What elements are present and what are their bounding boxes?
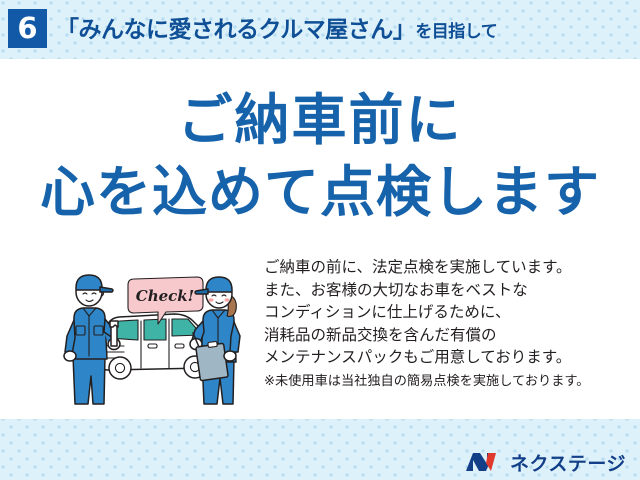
nextage-n-mark-icon bbox=[464, 450, 504, 474]
content-card: ご納車前に 心を込めて点検します ご納車の前に、法定点検を実施しています。 また… bbox=[0, 59, 640, 419]
wrench-icon bbox=[110, 321, 118, 346]
mechanic-male-figure bbox=[64, 275, 120, 404]
page-title-line-2: 心を込めて点検します bbox=[0, 156, 640, 228]
header-title-quoted: 「みんなに愛されるクルマ屋さん」 bbox=[56, 16, 415, 42]
description-line: ご納車の前に、法定点検を実施しています。 bbox=[264, 256, 624, 279]
promo-page: 6 「みんなに愛されるクルマ屋さん」を目指して ご納車前に 心を込めて点検します… bbox=[0, 0, 640, 480]
brand-logo: ネクステージ bbox=[464, 449, 626, 475]
speech-bubble-text: Check! bbox=[136, 287, 195, 305]
description-text: ご納車の前に、法定点検を実施しています。 また、お客様の大切なお車をベストな コ… bbox=[264, 256, 624, 392]
description-footnote: ※未使用車は当社独自の簡易点検を実施しております。 bbox=[264, 371, 624, 392]
description-line: 消耗品の新品交換を含んだ有償の bbox=[264, 324, 624, 347]
description-line: コンディションに仕上げるために、 bbox=[264, 301, 624, 324]
header-title: 「みんなに愛されるクルマ屋さん」を目指して bbox=[56, 10, 497, 48]
clipboard-icon bbox=[196, 341, 228, 380]
description-line: また、お客様の大切なお車をベストな bbox=[264, 279, 624, 302]
section-number-badge: 6 bbox=[8, 9, 47, 48]
page-header: 6 「みんなに愛されるクルマ屋さん」を目指して bbox=[0, 0, 640, 60]
page-title-line-1: ご納車前に bbox=[0, 84, 640, 156]
mechanics-illustration: .ln { fill:none; stroke:#231f20; stroke-… bbox=[62, 264, 262, 409]
page-title: ご納車前に 心を込めて点検します bbox=[0, 84, 640, 228]
description-line: メンテナンスパックもご用意しております。 bbox=[264, 346, 624, 369]
brand-name: ネクステージ bbox=[510, 449, 626, 476]
header-title-suffix: を目指して bbox=[415, 22, 497, 41]
mechanics-illustration-svg: .ln { fill:none; stroke:#231f20; stroke-… bbox=[62, 264, 262, 409]
